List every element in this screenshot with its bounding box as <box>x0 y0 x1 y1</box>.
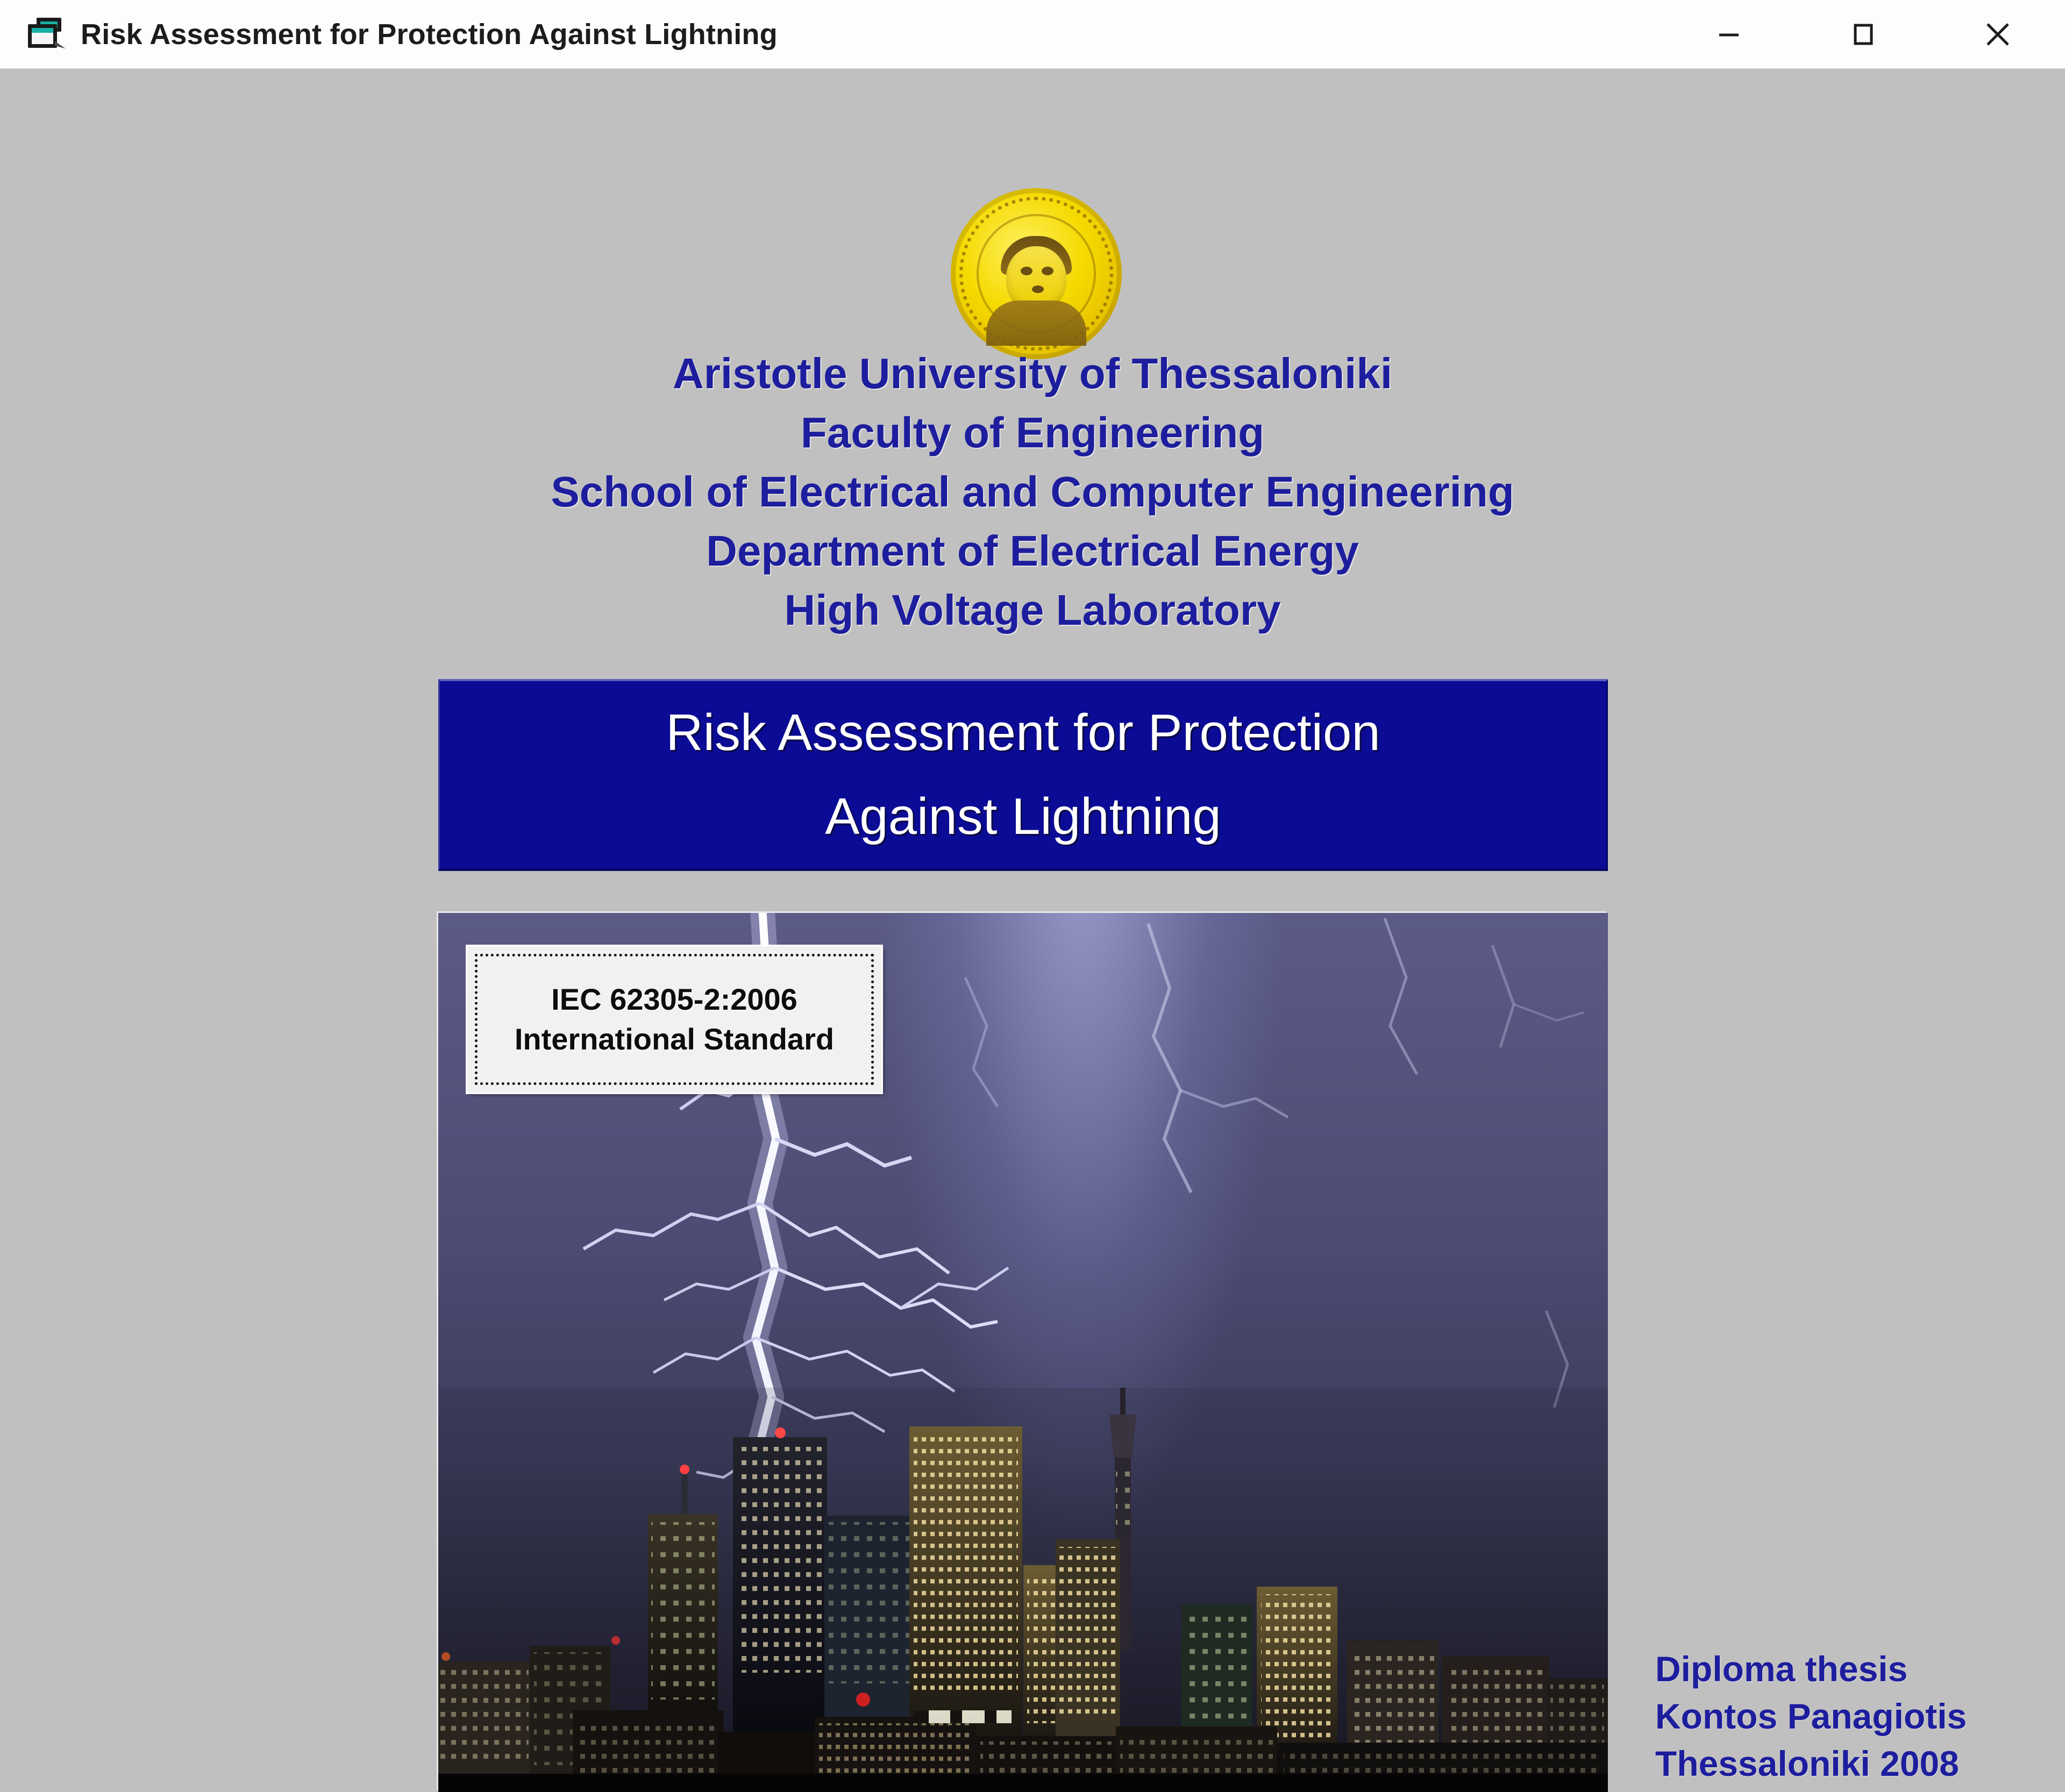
iec-standard-number: IEC 62305-2:2006 <box>551 980 797 1019</box>
institution-line-university: Aristotle University of Thessaloniki <box>0 344 2065 403</box>
seal-portrait-body <box>986 301 1086 346</box>
window-title: Risk Assessment for Protection Against L… <box>81 18 778 51</box>
close-icon <box>1979 16 2017 53</box>
minimize-icon <box>1713 18 1745 51</box>
lightning-city-photo: IEC 62305-2:2006 International Standard <box>438 913 1608 1792</box>
institution-heading-block: Aristotle University of Thessaloniki Fac… <box>0 344 2065 640</box>
seal-portrait-eye-right <box>1042 267 1053 275</box>
maximize-button[interactable] <box>1796 0 1931 69</box>
credits-line-place-year: Thessaloniki 2008 <box>1655 1740 1967 1787</box>
window-titlebar: Risk Assessment for Protection Against L… <box>0 0 2065 69</box>
credits-line-author: Kontos Panagiotis <box>1655 1693 1967 1740</box>
iec-standard-note-inner: IEC 62305-2:2006 International Standard <box>475 954 874 1085</box>
maximize-icon <box>1847 18 1879 51</box>
institution-line-school: School of Electrical and Computer Engine… <box>0 462 2065 522</box>
thesis-credits: Diploma thesis Kontos Panagiotis Thessal… <box>1655 1645 1967 1787</box>
institution-line-faculty: Faculty of Engineering <box>0 403 2065 462</box>
form-window-icon-front <box>28 24 57 48</box>
iec-standard-note: IEC 62305-2:2006 International Standard <box>467 946 881 1093</box>
form-window-icon <box>28 18 67 51</box>
aristotle-university-seal-icon <box>951 188 1122 359</box>
minimize-button[interactable] <box>1662 0 1796 69</box>
institution-line-laboratory: High Voltage Laboratory <box>0 581 2065 640</box>
iec-standard-subtitle: International Standard <box>515 1019 834 1059</box>
close-button[interactable] <box>1931 0 2065 69</box>
institution-line-department: Department of Electrical Energy <box>0 522 2065 581</box>
window-client-area: Aristotle University of Thessaloniki Fac… <box>0 69 2065 1790</box>
thesis-title-banner: Risk Assessment for Protection Against L… <box>438 679 1608 871</box>
city-skyline-graphic <box>438 1388 1608 1792</box>
thesis-title-line-1: Risk Assessment for Protection <box>666 691 1380 775</box>
thesis-title-line-2: Against Lightning <box>825 775 1221 859</box>
credits-line-type: Diploma thesis <box>1655 1645 1967 1693</box>
